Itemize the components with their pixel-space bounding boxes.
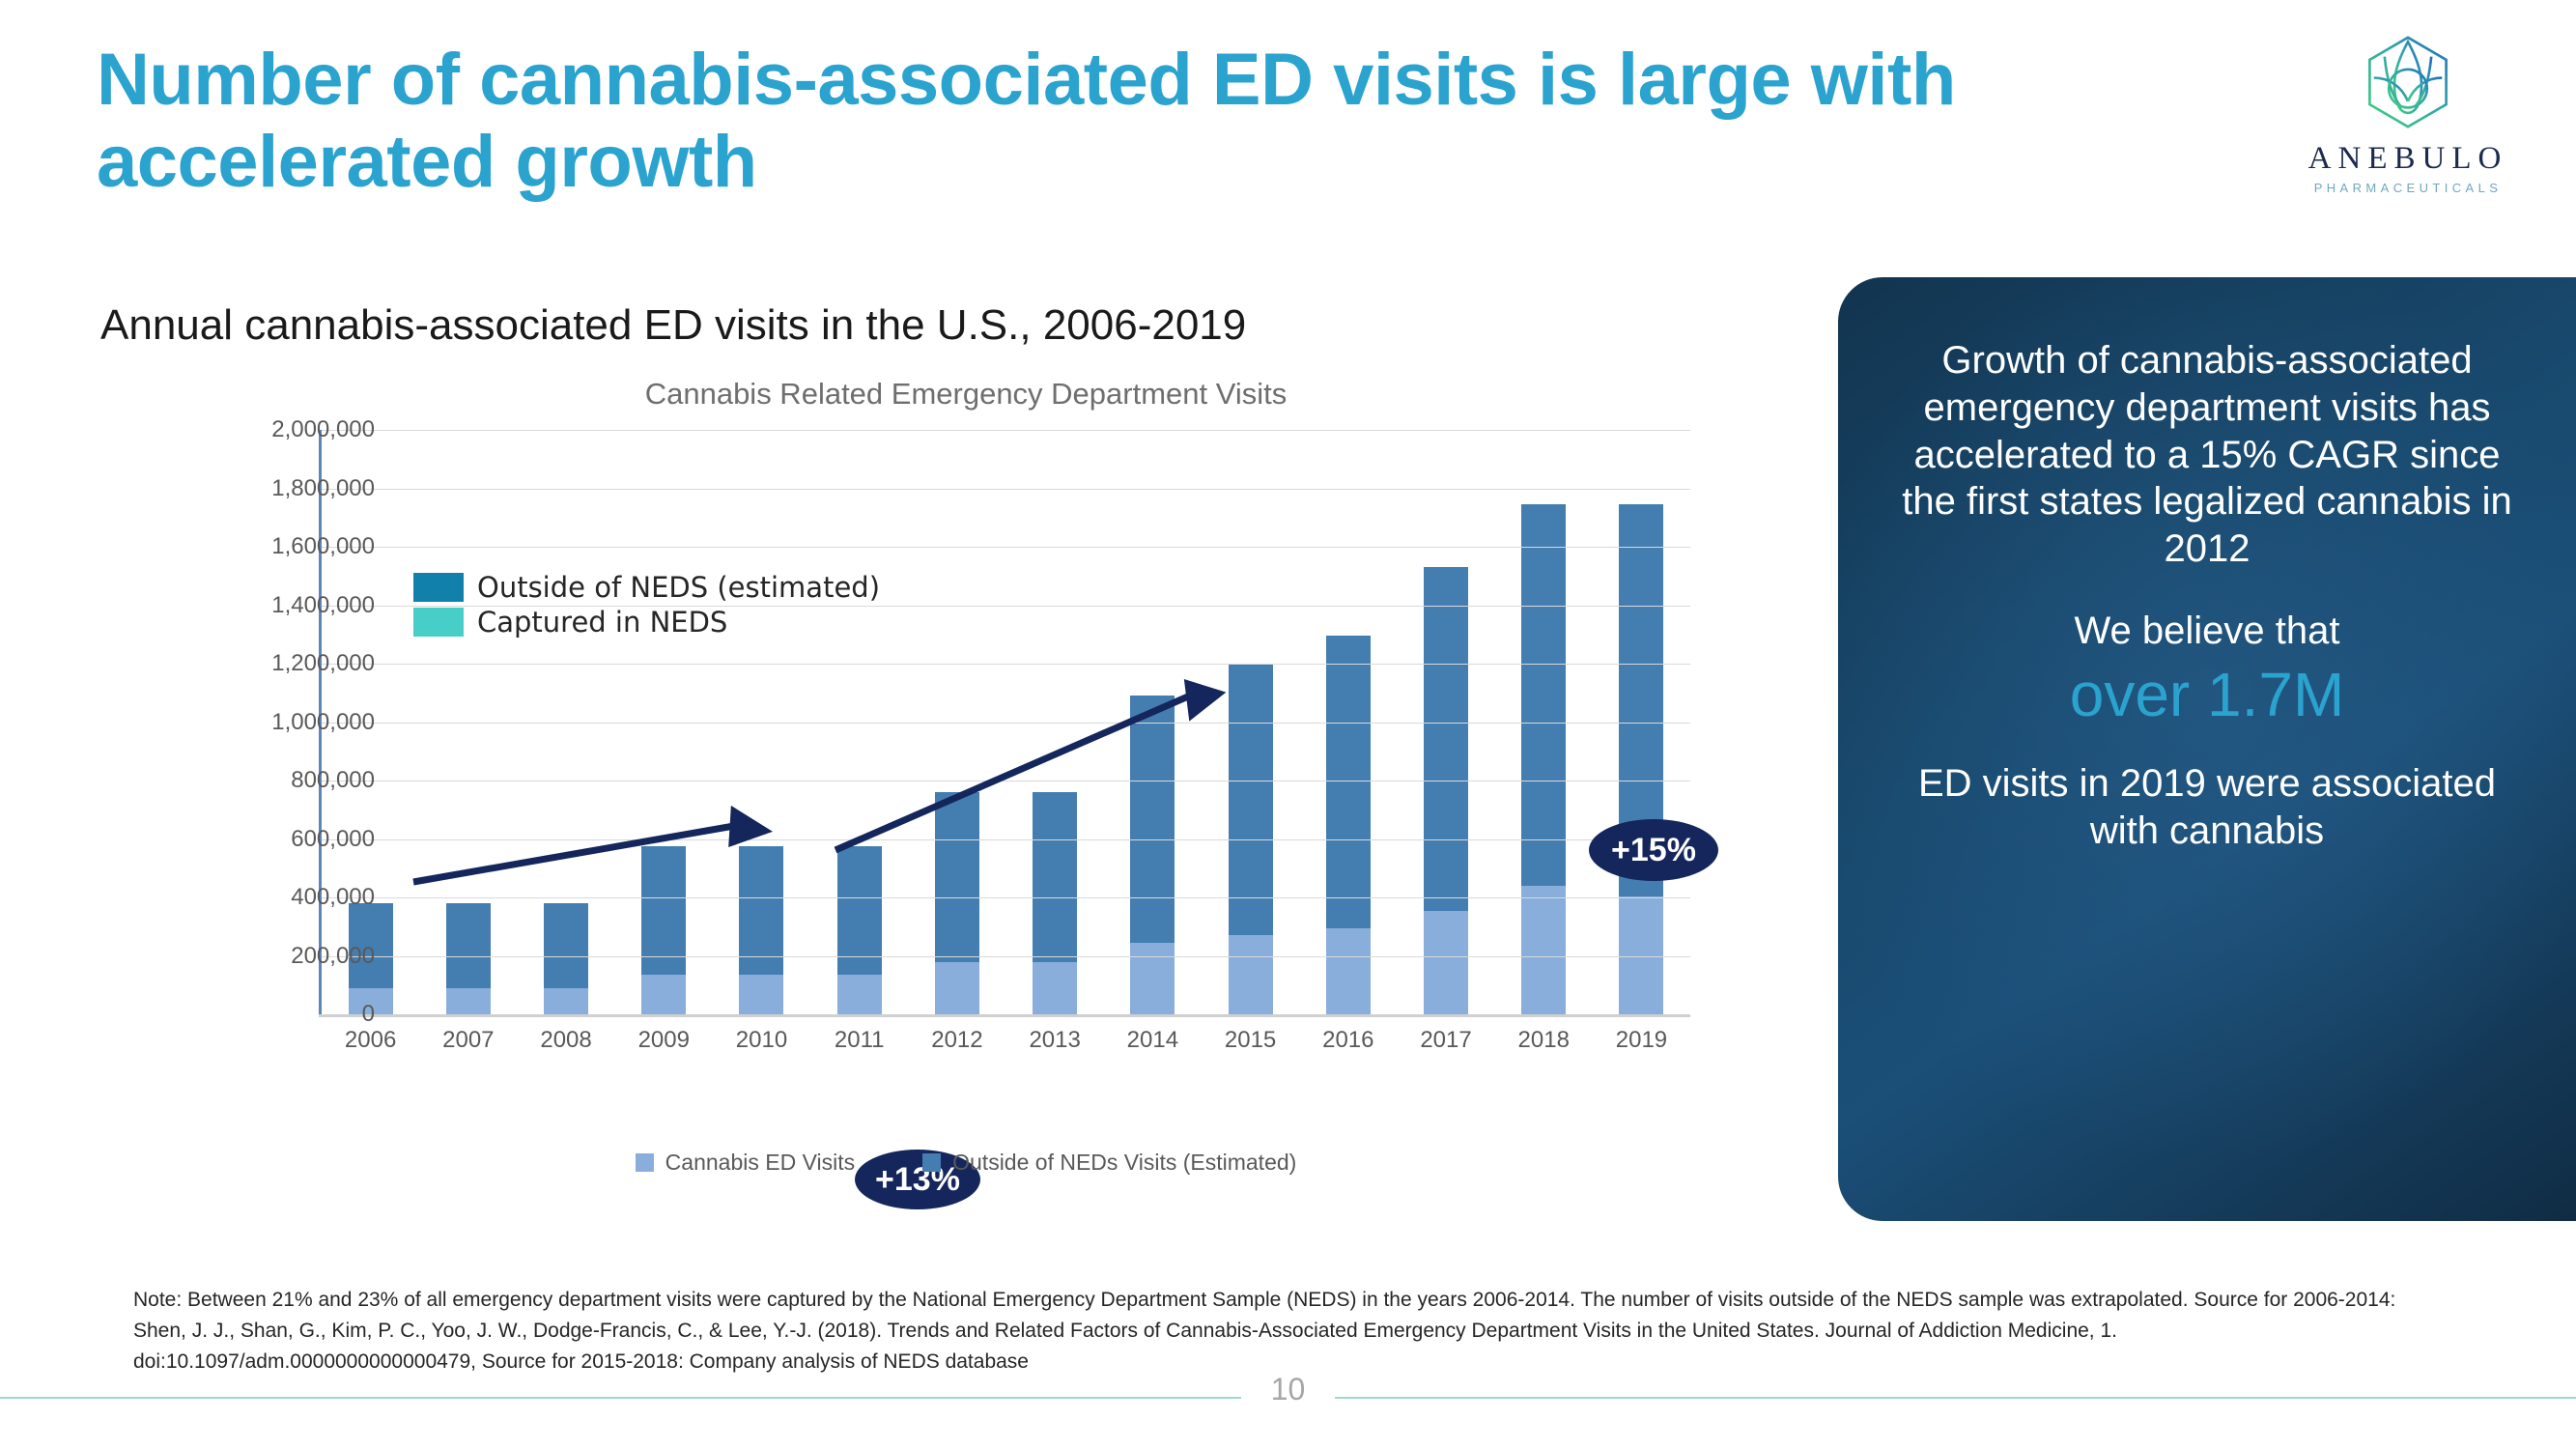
- x-axis-tick-label: 2007: [419, 1027, 517, 1054]
- bar-stack[interactable]: [837, 846, 882, 1014]
- x-axis-tick-label: 2006: [322, 1027, 419, 1054]
- chart-plot-area: 2006200720082009201020112012201320142015…: [319, 430, 1690, 1014]
- x-axis-tick-label: 2011: [810, 1027, 908, 1054]
- y-axis-tick-label: 800,000: [143, 767, 375, 794]
- bar-segment-outside-neds[interactable]: [1130, 696, 1175, 943]
- y-axis-tick-label: 2,000,000: [143, 416, 375, 443]
- bar-stack[interactable]: [1619, 504, 1663, 1014]
- bar-segment-outside-neds[interactable]: [935, 792, 979, 961]
- footer-rule-right: [1335, 1397, 2576, 1399]
- bar-segment-outside-neds[interactable]: [544, 903, 588, 988]
- highlight-tail-text: ED visits in 2019 were associated with c…: [1892, 760, 2522, 855]
- x-axis-tick-label: 2019: [1593, 1027, 1690, 1054]
- x-axis-tick-label: 2018: [1495, 1027, 1593, 1054]
- legend-swatch-icon: [922, 1153, 941, 1172]
- anebulo-hexagon-logo-icon: [2355, 29, 2461, 135]
- callout-badge-15: +15%: [1589, 819, 1718, 881]
- bar-segment-cannabis-ed-visits[interactable]: [1424, 911, 1468, 1014]
- chart-bottom-legend: Cannabis ED Visits Outside of NEDs Visit…: [174, 1150, 1758, 1176]
- chart-gridline: [322, 489, 1690, 490]
- y-axis-tick-label: 600,000: [143, 826, 375, 853]
- legend-swatch-icon: [413, 608, 464, 637]
- chart-gridline: [322, 839, 1690, 840]
- bar-segment-outside-neds[interactable]: [446, 903, 491, 988]
- highlight-believe-text: We believe that: [1892, 608, 2522, 655]
- section-subtitle: Annual cannabis-associated ED visits in …: [100, 301, 1246, 350]
- highlight-panel: Growth of cannabis-associated emergency …: [1838, 277, 2576, 1221]
- chart-gridline: [322, 956, 1690, 957]
- y-axis-tick-label: 1,400,000: [143, 592, 375, 619]
- chart-gridline: [322, 897, 1690, 898]
- highlight-big-number: over 1.7M: [1892, 661, 2522, 730]
- y-axis-tick-label: 1,600,000: [143, 533, 375, 560]
- bar-stack[interactable]: [641, 846, 686, 1014]
- bar-stack[interactable]: [1130, 696, 1175, 1014]
- bar-stack[interactable]: [935, 792, 979, 1014]
- y-axis-tick-label: 0: [143, 1001, 375, 1028]
- x-axis-tick-label: 2013: [1006, 1027, 1104, 1054]
- bar-stack[interactable]: [544, 903, 588, 1014]
- bar-stack[interactable]: [1033, 792, 1077, 1014]
- logo-wordmark: ANEBULO: [2287, 141, 2529, 177]
- bar-stack[interactable]: [1424, 567, 1468, 1014]
- y-axis-tick-label: 200,000: [143, 943, 375, 970]
- bar-segment-cannabis-ed-visits[interactable]: [1229, 935, 1273, 1014]
- bottom-legend-item-cannabis: Cannabis ED Visits: [636, 1150, 855, 1176]
- bar-segment-cannabis-ed-visits[interactable]: [739, 975, 783, 1014]
- bar-segment-outside-neds[interactable]: [1521, 504, 1566, 886]
- footnote-source: Note: Between 21% and 23% of all emergen…: [133, 1285, 2413, 1378]
- chart-gridline: [322, 547, 1690, 548]
- bar-stack[interactable]: [1326, 636, 1371, 1014]
- y-axis-tick-label: 1,200,000: [143, 650, 375, 677]
- x-axis-line: [319, 1014, 1690, 1017]
- chart-inner-legend: Outside of NEDS (estimated) Captured in …: [413, 570, 880, 639]
- page-number: 10: [1241, 1372, 1335, 1407]
- highlight-lead-text: Growth of cannabis-associated emergency …: [1892, 337, 2522, 573]
- chart-gridline: [322, 781, 1690, 781]
- x-axis-tick-label: 2016: [1299, 1027, 1397, 1054]
- bar-segment-cannabis-ed-visits[interactable]: [446, 988, 491, 1014]
- bar-segment-outside-neds[interactable]: [1424, 567, 1468, 910]
- legend-label: Outside of NEDS (estimated): [477, 571, 880, 604]
- bar-segment-cannabis-ed-visits[interactable]: [935, 962, 979, 1014]
- footer-rule-left: [0, 1397, 1241, 1399]
- legend-label: Cannabis ED Visits: [665, 1150, 855, 1176]
- slide: Number of cannabis-associated ED visits …: [0, 0, 2576, 1449]
- bar-stack[interactable]: [739, 846, 783, 1014]
- bar-stack[interactable]: [1521, 504, 1566, 1014]
- legend-item-captured-neds: Captured in NEDS: [413, 605, 880, 639]
- x-axis-tick-label: 2017: [1397, 1027, 1494, 1054]
- bar-segment-cannabis-ed-visits[interactable]: [1033, 962, 1077, 1014]
- bar-segment-cannabis-ed-visits[interactable]: [544, 988, 588, 1014]
- logo-tagline: PHARMACEUTICALS: [2287, 181, 2529, 195]
- x-axis-tick-label: 2008: [517, 1027, 614, 1054]
- chart-gridline: [322, 430, 1690, 431]
- bar-segment-outside-neds[interactable]: [1229, 664, 1273, 935]
- y-axis-tick-label: 1,000,000: [143, 709, 375, 736]
- x-axis-tick-label: 2009: [615, 1027, 713, 1054]
- page-title: Number of cannabis-associated ED visits …: [97, 39, 2241, 203]
- bar-stack[interactable]: [446, 903, 491, 1014]
- legend-label: Outside of NEDs Visits (Estimated): [952, 1150, 1296, 1176]
- bar-segment-cannabis-ed-visits[interactable]: [1130, 943, 1175, 1014]
- bottom-legend-item-outside: Outside of NEDs Visits (Estimated): [922, 1150, 1296, 1176]
- y-axis-tick-label: 400,000: [143, 884, 375, 911]
- chart-gridline: [322, 664, 1690, 665]
- bar-segment-cannabis-ed-visits[interactable]: [641, 975, 686, 1014]
- bar-segment-cannabis-ed-visits[interactable]: [1326, 928, 1371, 1014]
- legend-label: Captured in NEDS: [477, 606, 727, 639]
- chart-title: Cannabis Related Emergency Department Vi…: [174, 377, 1758, 412]
- x-axis-tick-label: 2012: [908, 1027, 1005, 1054]
- x-axis-tick-label: 2014: [1104, 1027, 1202, 1054]
- bar-segment-cannabis-ed-visits[interactable]: [1521, 886, 1566, 1014]
- chart-panel: Cannabis Related Emergency Department Vi…: [174, 377, 1758, 1207]
- company-logo: ANEBULO PHARMACEUTICALS: [2287, 29, 2529, 195]
- x-axis-tick-label: 2015: [1202, 1027, 1299, 1054]
- y-axis-tick-label: 1,800,000: [143, 475, 375, 502]
- legend-swatch-icon: [636, 1153, 654, 1172]
- chart-gridline: [322, 723, 1690, 724]
- legend-swatch-icon: [413, 573, 464, 602]
- bar-segment-cannabis-ed-visits[interactable]: [837, 975, 882, 1014]
- bar-segment-outside-neds[interactable]: [1033, 792, 1077, 961]
- x-axis-tick-label: 2010: [713, 1027, 810, 1054]
- legend-item-outside-neds: Outside of NEDS (estimated): [413, 570, 880, 605]
- bar-segment-outside-neds[interactable]: [1326, 636, 1371, 928]
